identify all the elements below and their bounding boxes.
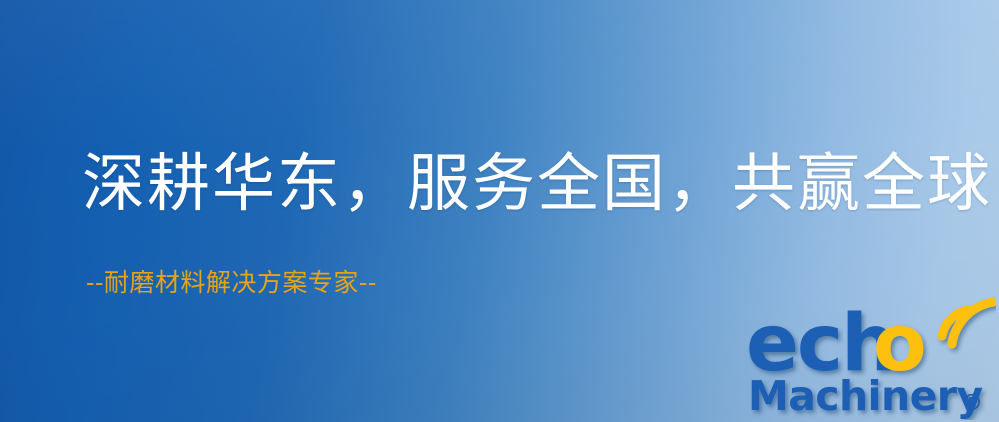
echo-machinery-logo-svg: ech o Machinery ® xyxy=(746,292,996,420)
company-logo[interactable]: ech o Machinery ® xyxy=(746,292,996,420)
echo-arc-outer xyxy=(952,302,993,344)
page-subtitle: --耐磨材料解决方案专家-- xyxy=(86,268,377,298)
logo-trademark-symbol: ® xyxy=(961,391,983,416)
hero-banner: 深耕华东，服务全国，共赢全球 --耐磨材料解决方案专家-- ech o Mach… xyxy=(0,0,999,422)
logo-wordmark-machinery: Machinery xyxy=(748,372,983,420)
echo-signal-arcs-icon xyxy=(942,302,993,344)
page-title: 深耕华东，服务全国，共赢全球 xyxy=(82,149,992,220)
